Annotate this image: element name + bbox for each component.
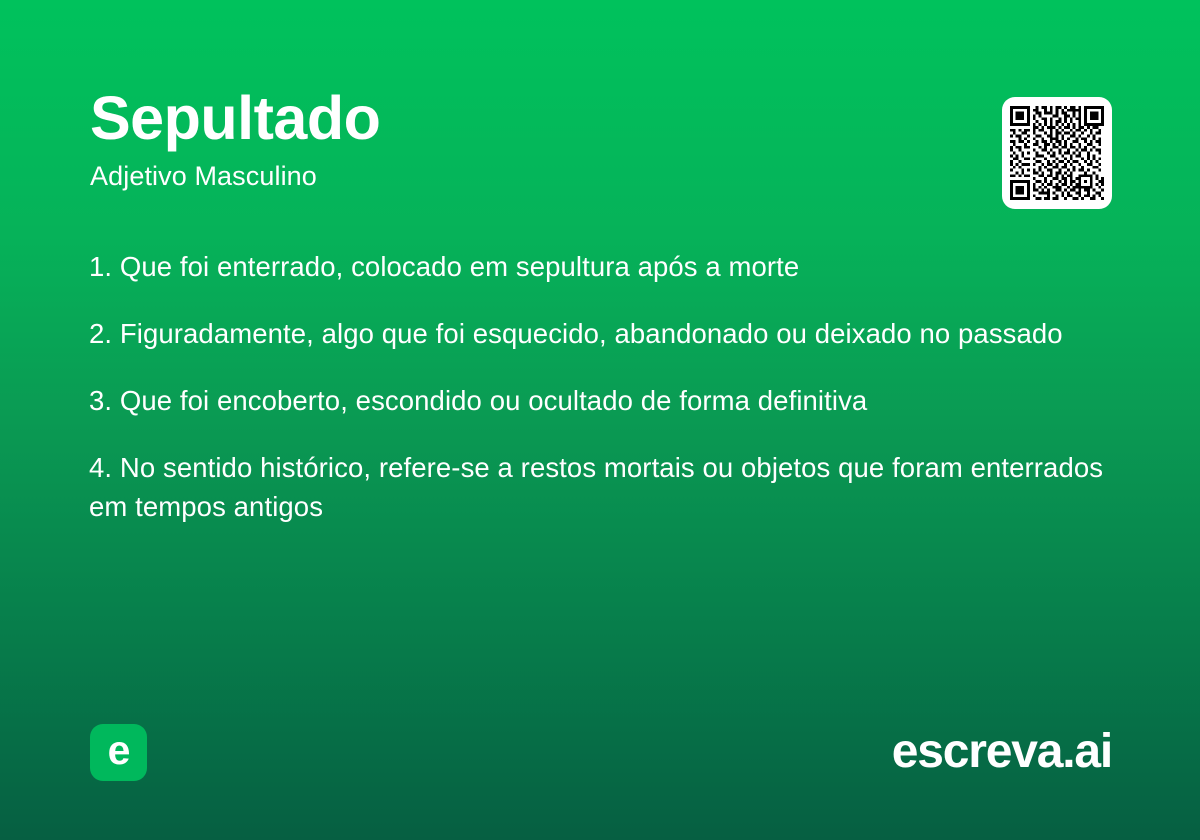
qr-code-icon <box>1010 105 1104 201</box>
list-item: 2. Figuradamente, algo que foi esquecido… <box>89 314 1119 353</box>
definition-card: Sepultado Adjetivo Masculino <box>0 0 1200 840</box>
escreva-logo-icon: e <box>90 724 147 781</box>
brand-name: escreva.ai <box>892 728 1112 776</box>
qr-code[interactable] <box>1002 97 1112 209</box>
page-title: Sepultado <box>90 86 1110 152</box>
list-item: 1. Que foi enterrado, colocado em sepult… <box>89 247 1119 286</box>
definition-list: 1. Que foi enterrado, colocado em sepult… <box>89 247 1119 526</box>
list-item: 3. Que foi encoberto, escondido ou ocult… <box>89 381 1119 420</box>
word-class-label: Adjetivo Masculino <box>90 160 1110 192</box>
card-header: Sepultado Adjetivo Masculino <box>90 86 1110 192</box>
card-footer: e escreva.ai <box>90 723 1112 781</box>
list-item: 4. No sentido histórico, refere-se a res… <box>89 448 1119 526</box>
logo-letter: e <box>108 730 130 771</box>
